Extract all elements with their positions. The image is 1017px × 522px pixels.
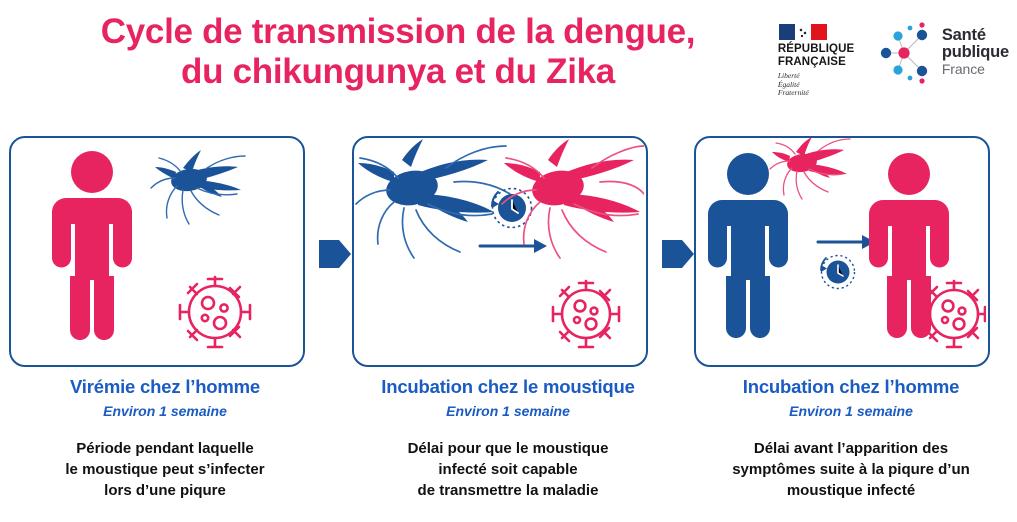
panels-row — [0, 136, 1017, 370]
rf-name-line-2: FRANÇAISE — [778, 56, 854, 69]
human-figure-blue — [708, 153, 788, 338]
caption-description-line-3: moustique infecté — [686, 480, 1016, 501]
caption-title: Virémie chez l’homme — [0, 376, 330, 398]
caption-duration: Environ 1 semaine — [0, 403, 330, 420]
dot-network-icon — [878, 22, 936, 84]
panel-incubation-moustique — [352, 136, 648, 367]
motto-line-3: Fraternité — [778, 89, 809, 98]
page-title-line-1: Cycle de transmission de la dengue, — [8, 12, 788, 52]
arrow-right-blue — [661, 235, 695, 273]
header: Cycle de transmission de la dengue, du c… — [0, 0, 1017, 125]
arrow-right-blue — [818, 235, 875, 249]
caption-description-line-2: symptômes suite à la piqure d’un — [686, 459, 1016, 480]
clock-icon-blue — [821, 256, 855, 289]
connector-1 — [318, 235, 352, 273]
virus-particle-pink — [180, 277, 250, 347]
caption-title: Incubation chez le moustique — [343, 376, 673, 398]
logo-group: RÉPUBLIQUE FRANÇAISE Liberté Égalité Fra… — [778, 16, 1009, 98]
spf-line-3: France — [942, 61, 1009, 78]
mosquito-pink — [502, 139, 644, 258]
marianne-flag-icon — [779, 24, 827, 40]
virus-particle-pink — [553, 281, 619, 347]
caption-description-line-3: lors d’une piqure — [0, 480, 330, 501]
human-figure-pink — [52, 151, 132, 340]
virus-particle-pink — [921, 281, 986, 347]
caption-duration: Environ 1 semaine — [343, 403, 673, 420]
republique-francaise-logo: RÉPUBLIQUE FRANÇAISE Liberté Égalité Fra… — [778, 16, 864, 98]
caption-description-line-2: infecté soit capable — [343, 459, 673, 480]
caption-description: Délai pour que le moustique infecté soit… — [343, 438, 673, 501]
republique-francaise-name: RÉPUBLIQUE FRANÇAISE — [778, 43, 854, 68]
mosquito-blue — [151, 150, 245, 224]
sante-publique-france-wordmark: Santé publique France — [942, 27, 1009, 80]
spf-line-2: publique — [942, 44, 1009, 61]
rf-name-line-1: RÉPUBLIQUE — [778, 43, 854, 56]
caption-description-line-1: Délai avant l’apparition des — [686, 438, 1016, 459]
republique-francaise-motto: Liberté Égalité Fraternité — [778, 72, 809, 98]
spf-line-1: Santé — [942, 27, 1009, 44]
arrow-right-blue — [318, 235, 352, 273]
panel-incubation-homme — [694, 136, 990, 367]
mosquito-blue — [356, 139, 510, 258]
human-figure-pink — [869, 153, 949, 338]
page-title-line-2: du chikungunya et du Zika — [8, 52, 788, 92]
caption-description: Période pendant laquelle le moustique pe… — [0, 438, 330, 501]
caption-title: Incubation chez l’homme — [686, 376, 1016, 398]
caption-description-line-2: le moustique peut s’infecter — [0, 459, 330, 480]
caption-description-line-1: Période pendant laquelle — [0, 438, 330, 459]
caption-description-line-1: Délai pour que le moustique — [343, 438, 673, 459]
panel-viremie — [9, 136, 305, 367]
caption-incubation-moustique: Incubation chez le moustique Environ 1 s… — [343, 376, 673, 501]
mosquito-pink — [770, 138, 850, 199]
caption-description: Délai avant l’apparition des symptômes s… — [686, 438, 1016, 501]
arrow-right-blue — [480, 239, 547, 253]
caption-incubation-homme: Incubation chez l’homme Environ 1 semain… — [686, 376, 1016, 501]
sante-publique-france-logo: Santé publique France — [878, 16, 1009, 84]
captions-row: Virémie chez l’homme Environ 1 semaine P… — [0, 376, 1017, 522]
caption-duration: Environ 1 semaine — [686, 403, 1016, 420]
caption-viremie: Virémie chez l’homme Environ 1 semaine P… — [0, 376, 330, 501]
connector-2 — [661, 235, 695, 273]
page-title: Cycle de transmission de la dengue, du c… — [8, 12, 788, 92]
caption-description-line-3: de transmettre la maladie — [343, 480, 673, 501]
